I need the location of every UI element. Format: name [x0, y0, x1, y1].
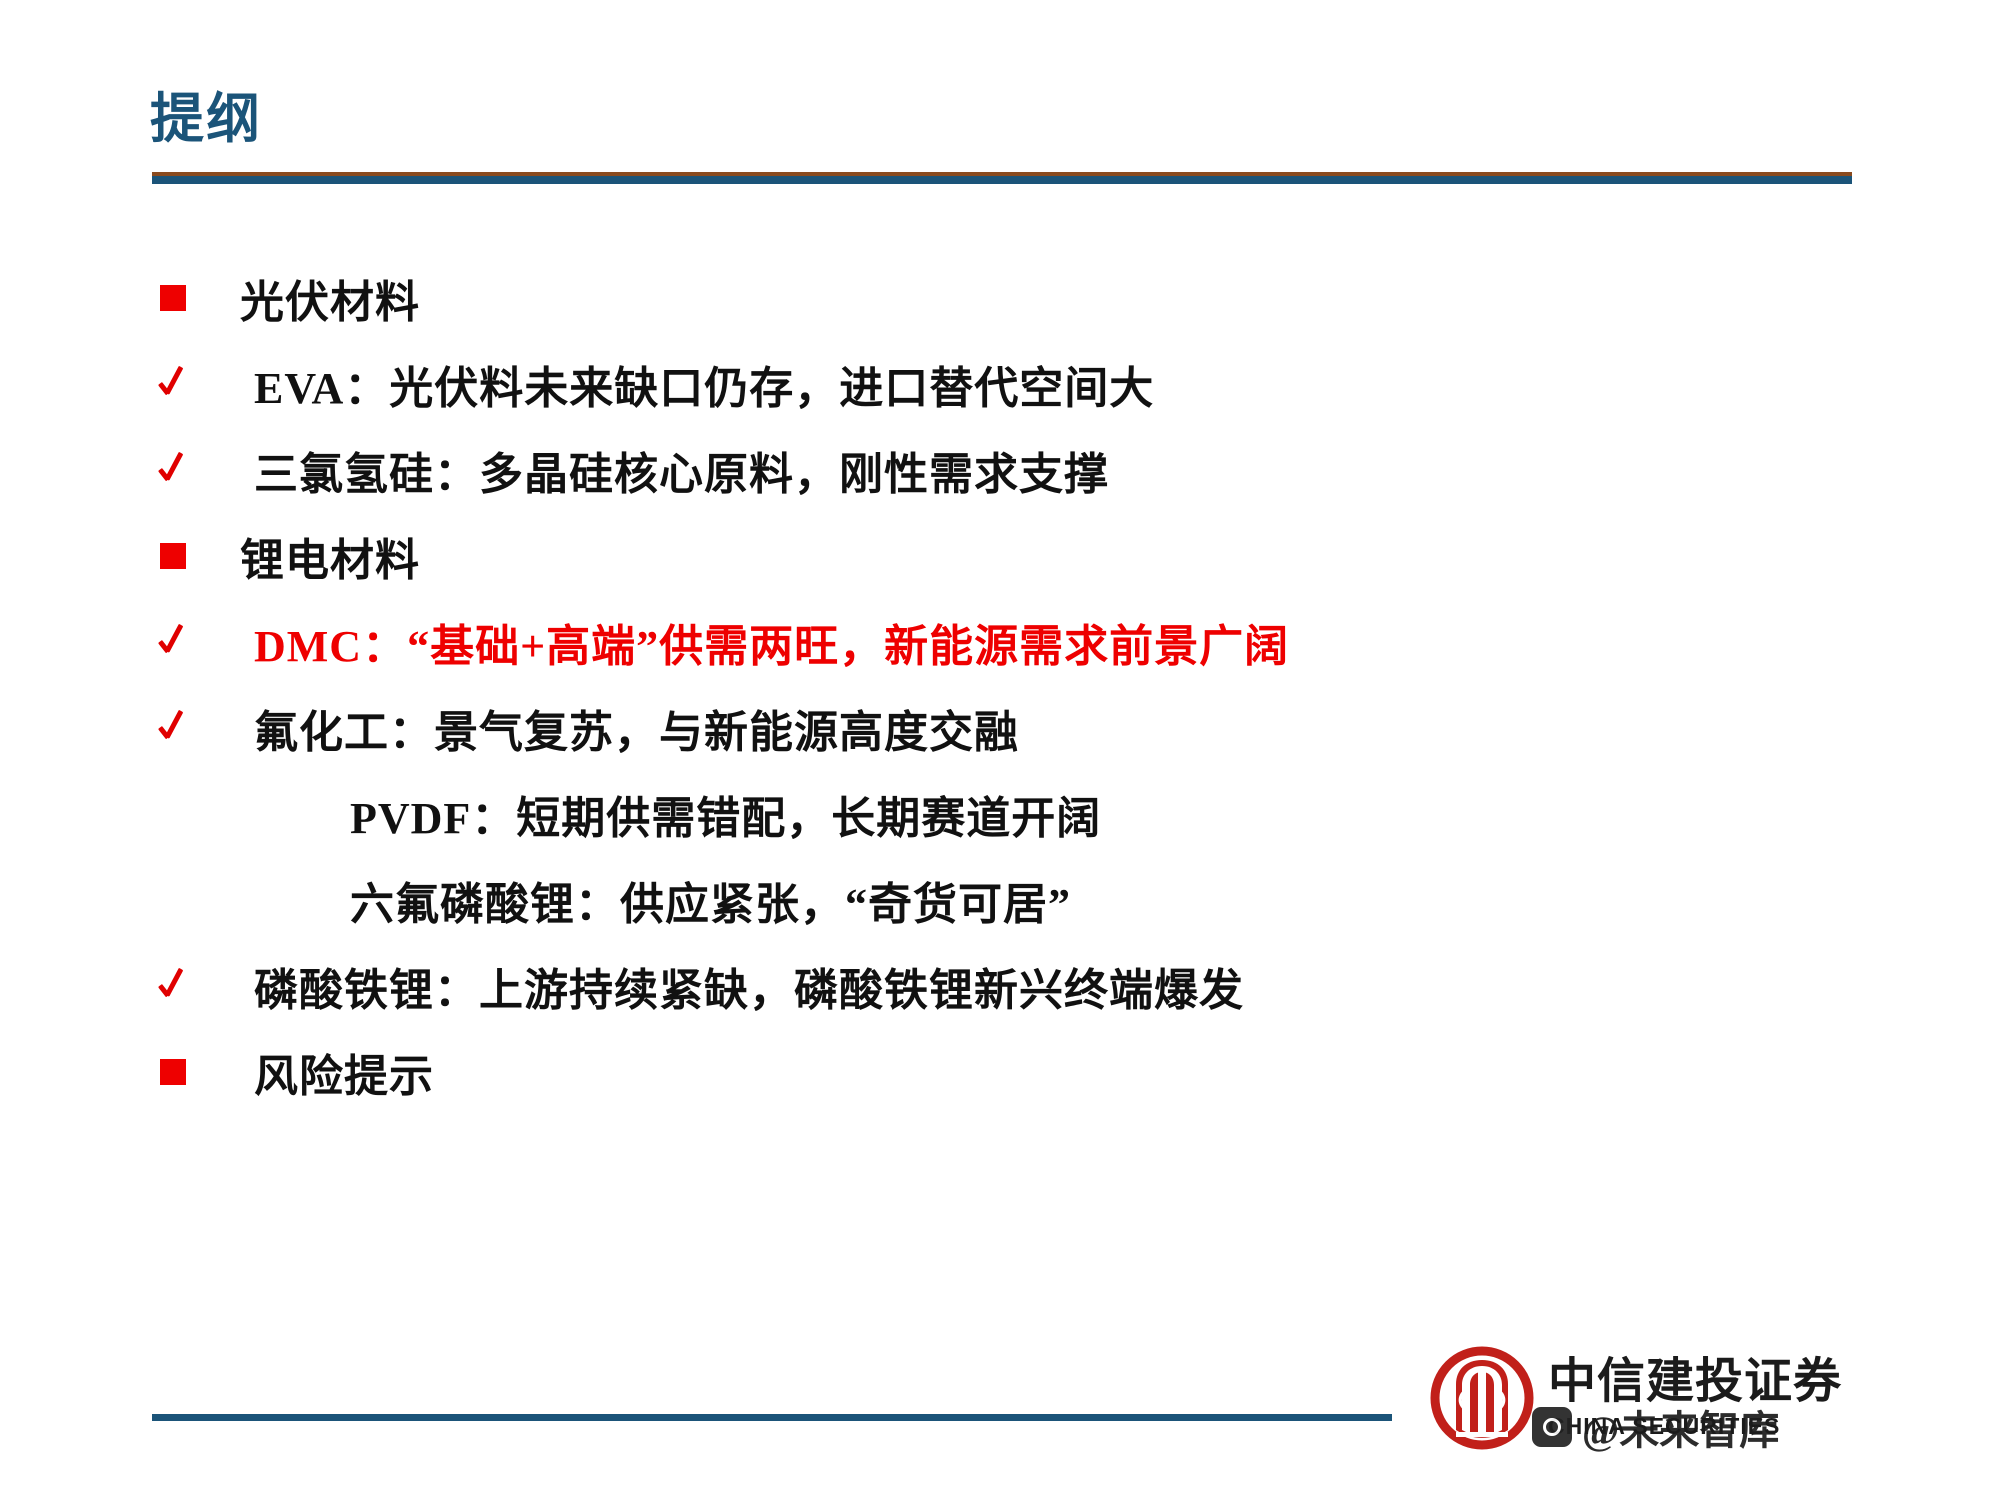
list-item: 光伏材料 — [150, 255, 1910, 341]
red-square-bullet-icon — [160, 285, 186, 311]
list-item: 氟化工：景气复苏，与新能源高度交融 — [150, 685, 1910, 771]
list-item-label: 风险提示 — [222, 1040, 434, 1104]
watermark-label: @未来智库 — [1582, 1398, 1779, 1456]
list-item-label: 磷酸铁锂：上游持续紧缺，磷酸铁锂新兴终端爆发 — [222, 954, 1244, 1018]
list-item: 锂电材料 — [150, 513, 1910, 599]
bullet-cell — [150, 451, 222, 489]
bullet-cell — [150, 967, 222, 1005]
list-item-label: PVDF：短期供需错配，长期赛道开阔 — [222, 782, 1101, 846]
header-divider — [152, 172, 1852, 184]
red-check-bullet-icon — [158, 709, 192, 747]
header-divider-blue — [152, 176, 1852, 184]
red-square-bullet-icon — [160, 1059, 186, 1085]
red-check-bullet-icon — [158, 451, 192, 489]
bullet-cell — [150, 623, 222, 661]
list-item-highlighted: DMC：“基础+高端”供需两旺，新能源需求前景广阔 — [150, 599, 1910, 685]
citic-circle-logo-icon — [1430, 1346, 1534, 1450]
page-title: 提纲 — [150, 92, 1150, 146]
bullet-cell — [150, 285, 222, 311]
bullet-cell — [150, 543, 222, 569]
list-item-label: EVA：光伏料未来缺口仍存，进口替代空间大 — [222, 352, 1154, 416]
list-item: 三氯氢硅：多晶硅核心原料，刚性需求支撑 — [150, 427, 1910, 513]
list-item-label: 六氟磷酸锂：供应紧张，“奇货可居” — [222, 868, 1071, 932]
red-check-bullet-icon — [158, 623, 192, 661]
red-square-bullet-icon — [160, 543, 186, 569]
bullet-cell — [150, 1059, 222, 1085]
list-item-label: DMC：“基础+高端”供需两旺，新能源需求前景广阔 — [222, 610, 1289, 674]
list-item-label: 三氯氢硅：多晶硅核心原料，刚性需求支撑 — [222, 438, 1109, 502]
red-check-bullet-icon — [158, 365, 192, 403]
footer-divider — [152, 1414, 1392, 1421]
list-item-label: 氟化工：景气复苏，与新能源高度交融 — [222, 696, 1019, 760]
presentation-slide: 提纲 光伏材料 EVA：光伏料未来缺口仍存，进口替代空间大 三氯氢硅：多晶硅核心… — [0, 0, 2000, 1500]
list-item: PVDF：短期供需错配，长期赛道开阔 — [150, 771, 1910, 857]
outline-list: 光伏材料 EVA：光伏料未来缺口仍存，进口替代空间大 三氯氢硅：多晶硅核心原料，… — [150, 255, 1910, 1115]
toutiao-icon — [1532, 1407, 1572, 1447]
red-check-bullet-icon — [158, 967, 192, 1005]
bullet-cell — [150, 365, 222, 403]
title-area: 提纲 — [150, 92, 1150, 172]
list-item-label: 锂电材料 — [222, 524, 420, 588]
watermark: @未来智库 — [1532, 1398, 1779, 1456]
list-item: 磷酸铁锂：上游持续紧缺，磷酸铁锂新兴终端爆发 — [150, 943, 1910, 1029]
list-item-label: 光伏材料 — [222, 266, 420, 330]
bullet-cell — [150, 709, 222, 747]
list-item: 风险提示 — [150, 1029, 1910, 1115]
list-item: EVA：光伏料未来缺口仍存，进口替代空间大 — [150, 341, 1910, 427]
list-item: 六氟磷酸锂：供应紧张，“奇货可居” — [150, 857, 1910, 943]
